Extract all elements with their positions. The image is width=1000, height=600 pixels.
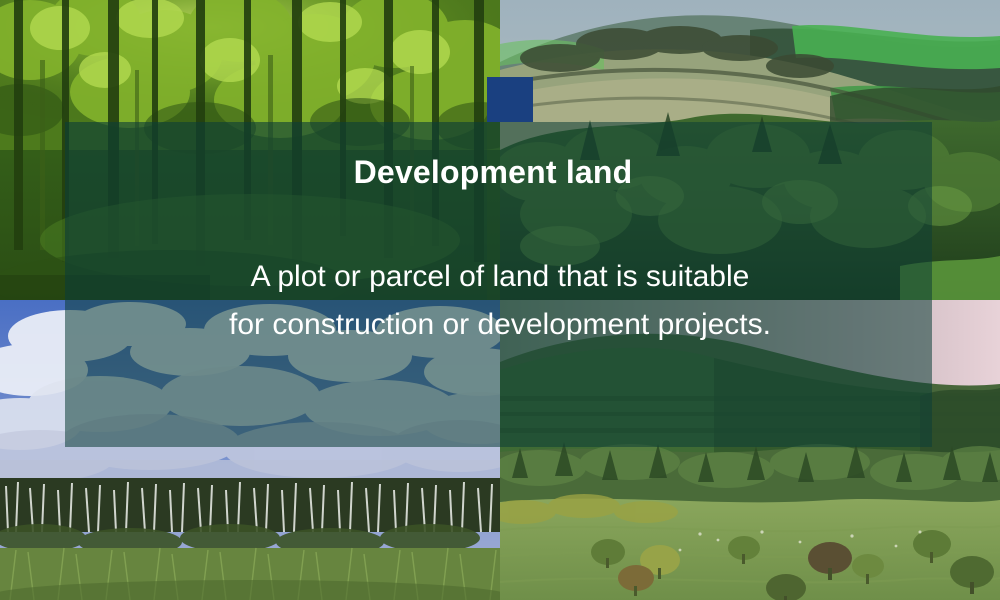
- text-overlay-panel: [65, 122, 932, 447]
- accent-rectangle: [487, 77, 533, 122]
- slide-canvas: Development land A plot or parcel of lan…: [0, 0, 1000, 600]
